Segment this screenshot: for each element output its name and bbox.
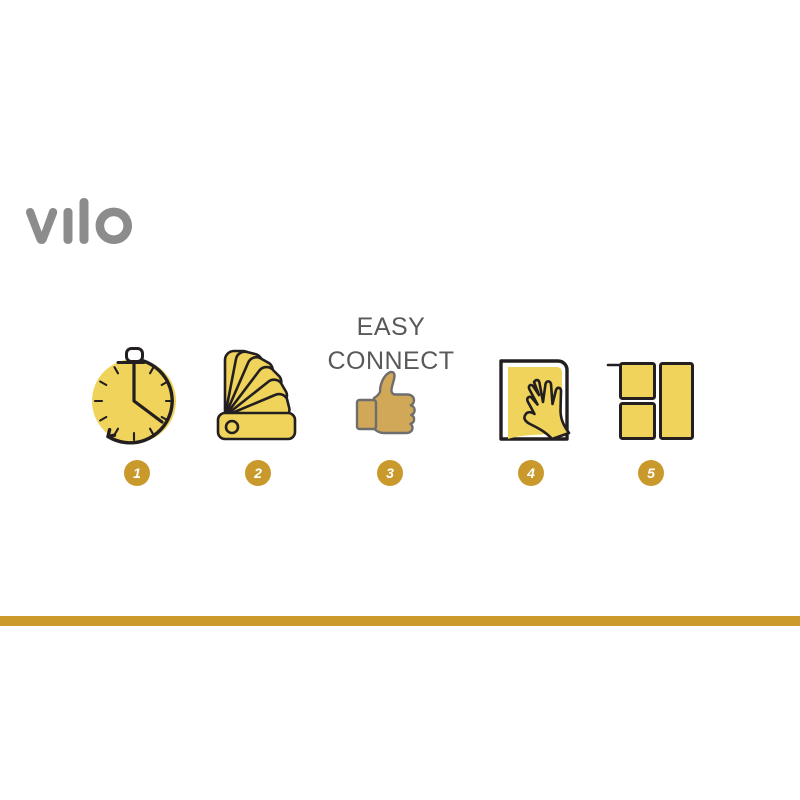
step-1[interactable]: 1 — [67, 300, 207, 500]
stopwatch-icon — [67, 300, 207, 450]
step-badge-4: 4 — [518, 460, 544, 486]
hand-wipe-icon — [461, 300, 601, 450]
slide-canvas: 1 — [0, 0, 800, 800]
easy-connect-caption: EASY CONNECT — [320, 310, 462, 378]
caption-line-2: CONNECT — [320, 344, 462, 378]
step-badge-2: 2 — [245, 460, 271, 486]
caption-line-1: EASY — [320, 310, 462, 344]
bottom-gold-bar — [0, 616, 800, 626]
step-5[interactable]: 5 — [581, 300, 721, 500]
step-badge-1: 1 — [124, 460, 150, 486]
step-badge-5: 5 — [638, 460, 664, 486]
panel-layout-icon — [581, 300, 721, 450]
step-2[interactable]: 2 — [188, 300, 328, 500]
colour-fan-icon — [188, 300, 328, 450]
step-badge-3: 3 — [377, 460, 403, 486]
vilo-logo — [22, 198, 152, 250]
step-4[interactable]: 4 — [461, 300, 601, 500]
